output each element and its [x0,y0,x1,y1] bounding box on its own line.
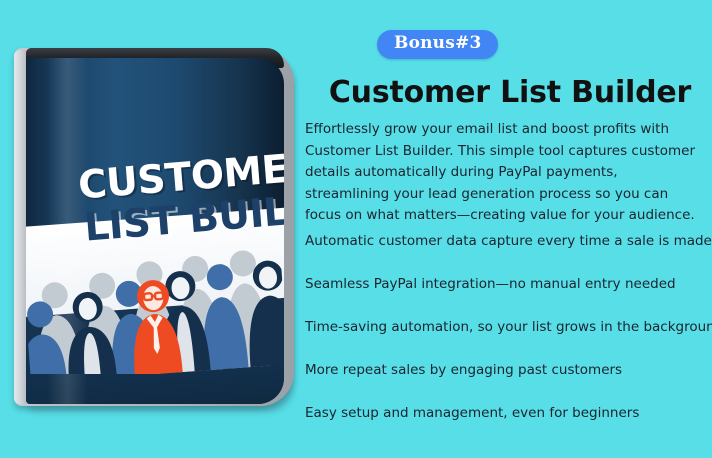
bonus-badge-row: Bonus#3 [377,30,498,59]
content-column: Bonus#3 Customer List Builder Effortless… [305,0,705,458]
intro-paragraph: Effortlessly grow your email list and bo… [305,119,701,227]
list-item: Seamless PayPal integration—no manual en… [305,274,705,295]
promo-slide: CUSTOMER LIST BUILDER Bonus#3 Customer L… [0,0,712,458]
crowd-illustration [26,244,284,374]
box-front-face: CUSTOMER LIST BUILDER [26,58,284,404]
benefits-list: Automatic customer data capture every ti… [305,231,705,424]
page-title: Customer List Builder [312,76,708,109]
list-item: Time-saving automation, so your list gro… [305,317,705,338]
list-item: Automatic customer data capture every ti… [305,231,705,252]
crowd-svg [26,244,284,374]
list-item: Easy setup and management, even for begi… [305,403,705,424]
list-item: More repeat sales by engaging past custo… [305,360,705,381]
bonus-badge: Bonus#3 [377,30,498,59]
product-box-image: CUSTOMER LIST BUILDER [12,44,304,416]
